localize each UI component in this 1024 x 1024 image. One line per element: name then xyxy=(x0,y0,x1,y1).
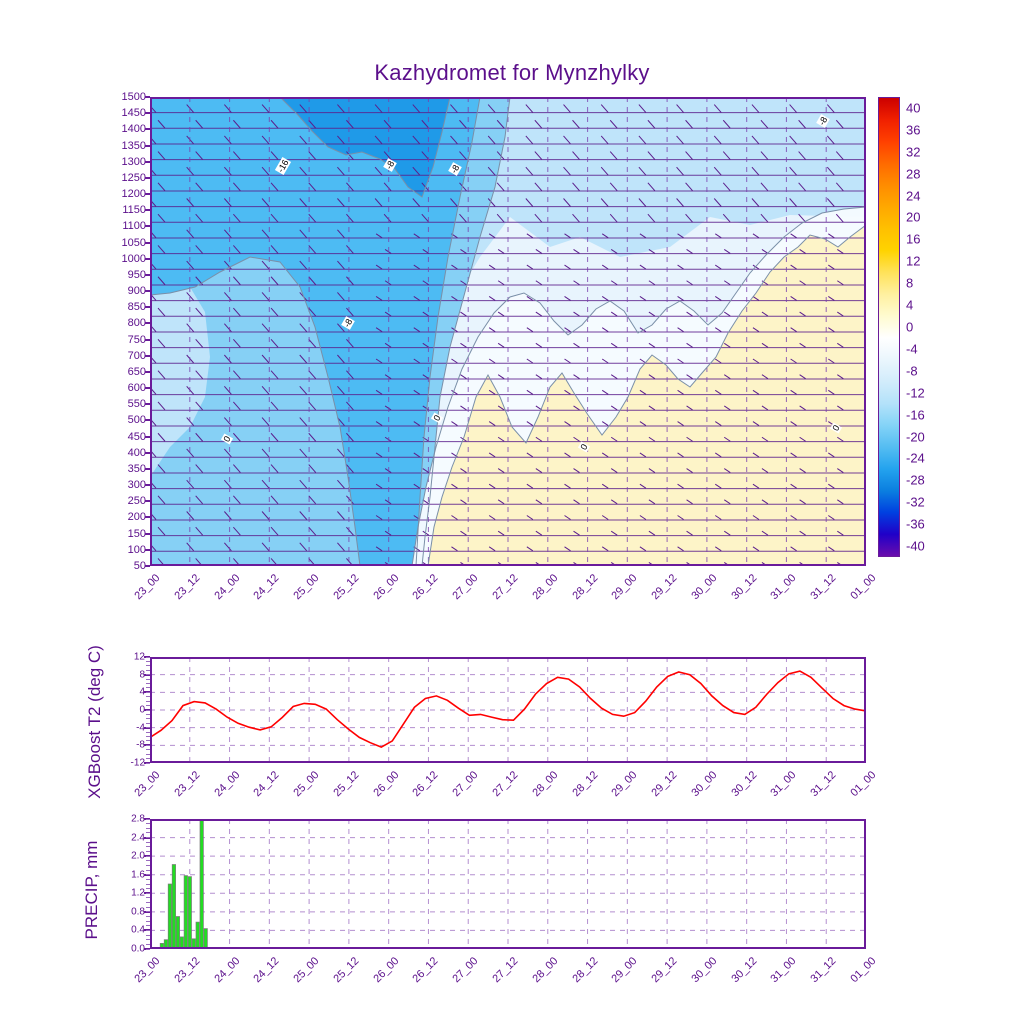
precip-x-tick: 24_12 xyxy=(252,955,282,985)
main-x-tick: 01_00 xyxy=(848,572,878,602)
colorbar-tick: 12 xyxy=(906,254,920,269)
main-x-tick: 24_00 xyxy=(212,572,242,602)
main-y-tickmark xyxy=(145,371,150,373)
main-y-tickmark xyxy=(145,112,150,114)
main-y-tickmark xyxy=(145,500,150,502)
precip-y-minor-tick xyxy=(146,879,150,880)
main-y-tickmark xyxy=(145,533,150,535)
main-x-tick: 24_12 xyxy=(252,572,282,602)
main-y-tickmark xyxy=(145,355,150,357)
colorbar-tick: 40 xyxy=(906,100,920,115)
t2-x-tick: 28_12 xyxy=(570,769,600,799)
page-title: Kazhydromet for Mynzhylky xyxy=(0,60,1024,86)
main-y-tickmark xyxy=(145,96,150,98)
main-y-tick: 850 xyxy=(128,301,146,313)
main-x-tick: 30_12 xyxy=(729,572,759,602)
t2-x-tick: 25_00 xyxy=(291,769,321,799)
precip-y-minor-tick xyxy=(146,819,150,820)
precip-y-minor-tick xyxy=(146,916,150,917)
precip-x-tick: 26_00 xyxy=(371,955,401,985)
t2-x-tick: 31_12 xyxy=(809,769,839,799)
precip-y-minor-tick xyxy=(146,897,150,898)
main-y-tickmark xyxy=(145,306,150,308)
precip-x-tick: 31_00 xyxy=(769,955,799,985)
t2-y-minor-tick xyxy=(146,665,150,666)
main-y-tickmark xyxy=(145,339,150,341)
precip-y-tick: 2.4 xyxy=(131,832,145,843)
t2-y-minor-tick xyxy=(146,718,150,719)
precip-y-minor-tick xyxy=(146,925,150,926)
main-y-tick: 900 xyxy=(128,285,146,297)
t2-x-tick: 28_00 xyxy=(530,769,560,799)
main-y-tickmark xyxy=(145,484,150,486)
colorbar-gradient xyxy=(878,97,900,557)
precip-y-minor-tick xyxy=(146,944,150,945)
precip-y-minor-tick xyxy=(146,930,150,931)
main-x-tick: 27_00 xyxy=(451,572,481,602)
main-y-tick: 750 xyxy=(128,334,146,346)
main-y-tick: 1200 xyxy=(122,188,146,200)
main-y-tickmark xyxy=(145,177,150,179)
colorbar-tick: 32 xyxy=(906,144,920,159)
t2-y-minor-tick xyxy=(146,736,150,737)
precip-y-minor-tick xyxy=(146,842,150,843)
main-y-tickmark xyxy=(145,161,150,163)
main-y-tick: 1400 xyxy=(122,123,146,135)
colorbar-tick: 24 xyxy=(906,188,920,203)
main-x-tick: 25_12 xyxy=(331,572,361,602)
t2-x-tick: 30_12 xyxy=(729,769,759,799)
main-x-tick: 25_00 xyxy=(291,572,321,602)
temperature-cross-section-panel xyxy=(150,97,866,566)
t2-x-tick: 26_12 xyxy=(411,769,441,799)
main-y-tick: 700 xyxy=(128,350,146,362)
t2-y-minor-tick xyxy=(146,692,150,693)
precip-y-minor-tick xyxy=(146,837,150,838)
t2-y-minor-tick xyxy=(146,657,150,658)
colorbar-tick: 8 xyxy=(906,276,913,291)
t2-x-tick: 25_12 xyxy=(331,769,361,799)
precip-x-tick: 23_12 xyxy=(172,955,202,985)
precip-y-tick: 0.0 xyxy=(131,944,145,955)
t2-y-minor-tick xyxy=(146,763,150,764)
precip-x-tick: 30_12 xyxy=(729,955,759,985)
precip-y-minor-tick xyxy=(146,860,150,861)
precip-x-tick: 29_00 xyxy=(610,955,640,985)
main-y-tick: 600 xyxy=(128,382,146,394)
precip-x-tick: 30_00 xyxy=(689,955,719,985)
precip-y-tick: 0.4 xyxy=(131,925,145,936)
main-y-tick: 950 xyxy=(128,269,146,281)
t2-y-tick: -12 xyxy=(131,758,145,769)
t2-x-tick: 30_00 xyxy=(689,769,719,799)
main-y-tickmark xyxy=(145,274,150,276)
t2-x-tick: 23_00 xyxy=(132,769,162,799)
main-x-tick: 28_00 xyxy=(530,572,560,602)
colorbar-tick: 4 xyxy=(906,298,913,313)
colorbar-tick: -28 xyxy=(906,473,925,488)
t2-x-tick: 29_00 xyxy=(610,769,640,799)
main-y-tick: 200 xyxy=(128,511,146,523)
main-y-tickmark xyxy=(145,403,150,405)
main-y-tickmark xyxy=(145,258,150,260)
precip-y-minor-tick xyxy=(146,911,150,912)
main-y-tick: 1300 xyxy=(122,156,146,168)
precip-x-tick: 29_12 xyxy=(649,955,679,985)
main-y-tickmark xyxy=(145,193,150,195)
t2-y-minor-tick xyxy=(146,758,150,759)
precip-y-minor-tick xyxy=(146,907,150,908)
main-y-tickmark xyxy=(145,242,150,244)
t2-x-tick: 23_12 xyxy=(172,769,202,799)
precip-y-minor-tick xyxy=(146,935,150,936)
precip-y-minor-tick xyxy=(146,884,150,885)
precip-y-tick: 2.0 xyxy=(131,851,145,862)
main-y-tick: 450 xyxy=(128,431,146,443)
main-y-tickmark xyxy=(145,322,150,324)
xgboost-t2-panel xyxy=(150,657,866,763)
main-y-tick: 350 xyxy=(128,463,146,475)
main-y-tick: 150 xyxy=(128,528,146,540)
t2-y-minor-tick xyxy=(146,714,150,715)
main-y-tick: 1050 xyxy=(122,237,146,249)
colorbar-tick: -24 xyxy=(906,451,925,466)
main-y-tick: 550 xyxy=(128,398,146,410)
precip-y-minor-tick xyxy=(146,856,150,857)
precip-y-minor-tick xyxy=(146,902,150,903)
main-y-tick: 1250 xyxy=(122,172,146,184)
main-y-tick: 800 xyxy=(128,317,146,329)
precip-y-tick: 1.6 xyxy=(131,869,145,880)
colorbar-tick: -36 xyxy=(906,517,925,532)
main-y-tick: 500 xyxy=(128,414,146,426)
t2-y-minor-tick xyxy=(146,745,150,746)
main-y-tickmark xyxy=(145,516,150,518)
precip-x-tick: 25_00 xyxy=(291,955,321,985)
main-y-tick: 650 xyxy=(128,366,146,378)
main-x-tick: 23_12 xyxy=(172,572,202,602)
main-y-tick: 1450 xyxy=(122,107,146,119)
precip-y-minor-tick xyxy=(146,949,150,950)
precip-panel-frame xyxy=(150,819,866,949)
colorbar-tick: 36 xyxy=(906,122,920,137)
colorbar-tick: -12 xyxy=(906,385,925,400)
main-y-tick: 1100 xyxy=(122,220,146,232)
t2-x-tick: 24_00 xyxy=(212,769,242,799)
precip-y-tick: 1.2 xyxy=(131,888,145,899)
precip-y-minor-tick xyxy=(146,870,150,871)
precip-y-minor-tick xyxy=(146,921,150,922)
precip-axis-label: PRECIP, mm xyxy=(82,790,102,990)
t2-y-minor-tick xyxy=(146,679,150,680)
main-y-tickmark xyxy=(145,225,150,227)
colorbar-tick: 28 xyxy=(906,166,920,181)
main-y-tick: 1350 xyxy=(122,140,146,152)
precip-x-tick: 24_00 xyxy=(212,955,242,985)
precip-x-tick: 27_12 xyxy=(490,955,520,985)
precip-x-tick: 01_00 xyxy=(848,955,878,985)
colorbar-tick: -8 xyxy=(906,363,918,378)
main-y-tickmark xyxy=(145,128,150,130)
main-x-tick: 23_00 xyxy=(132,572,162,602)
main-y-tick: 1000 xyxy=(122,253,146,265)
main-x-tick: 26_00 xyxy=(371,572,401,602)
t2-y-minor-tick xyxy=(146,732,150,733)
main-y-tickmark xyxy=(145,549,150,551)
t2-y-minor-tick xyxy=(146,740,150,741)
colorbar-tick: -16 xyxy=(906,407,925,422)
t2-x-tick: 31_00 xyxy=(769,769,799,799)
t2-y-minor-tick xyxy=(146,661,150,662)
precip-y-tick: 2.8 xyxy=(131,814,145,825)
main-y-tick: 400 xyxy=(128,447,146,459)
t2-y-minor-tick xyxy=(146,701,150,702)
main-y-tick: 300 xyxy=(128,479,146,491)
t2-panel-frame xyxy=(150,657,866,763)
precip-y-minor-tick xyxy=(146,832,150,833)
main-x-tick: 30_00 xyxy=(689,572,719,602)
precip-x-tick: 25_12 xyxy=(331,955,361,985)
colorbar-tick: 16 xyxy=(906,232,920,247)
colorbar-tick: -20 xyxy=(906,429,925,444)
main-x-tick: 26_12 xyxy=(411,572,441,602)
precip-x-tick: 23_00 xyxy=(132,955,162,985)
main-y-tick: 250 xyxy=(128,495,146,507)
colorbar-tick: 20 xyxy=(906,210,920,225)
precip-y-minor-tick xyxy=(146,939,150,940)
precip-x-tick: 28_12 xyxy=(570,955,600,985)
colorbar-tick: -32 xyxy=(906,495,925,510)
main-y-tickmark xyxy=(145,387,150,389)
t2-y-minor-tick xyxy=(146,727,150,728)
precip-y-minor-tick xyxy=(146,865,150,866)
precip-y-minor-tick xyxy=(146,846,150,847)
t2-x-tick: 24_12 xyxy=(252,769,282,799)
main-y-tick: 1500 xyxy=(122,91,146,103)
t2-y-minor-tick xyxy=(146,710,150,711)
t2-y-minor-tick xyxy=(146,696,150,697)
t2-x-tick: 27_12 xyxy=(490,769,520,799)
colorbar-tick: 0 xyxy=(906,320,913,335)
colorbar xyxy=(878,97,900,557)
precip-y-minor-tick xyxy=(146,888,150,889)
t2-y-minor-tick xyxy=(146,754,150,755)
precip-x-tick: 28_00 xyxy=(530,955,560,985)
precip-y-minor-tick xyxy=(146,893,150,894)
precip-y-minor-tick xyxy=(146,851,150,852)
precip-x-tick: 31_12 xyxy=(809,955,839,985)
main-y-tickmark xyxy=(145,565,150,567)
main-x-tick: 29_00 xyxy=(610,572,640,602)
main-y-tickmark xyxy=(145,436,150,438)
precip-y-minor-tick xyxy=(146,828,150,829)
main-panel-frame xyxy=(150,97,866,566)
t2-x-tick: 26_00 xyxy=(371,769,401,799)
t2-y-minor-tick xyxy=(146,749,150,750)
precip-y-minor-tick xyxy=(146,823,150,824)
main-y-tickmark xyxy=(145,419,150,421)
t2-y-minor-tick xyxy=(146,705,150,706)
colorbar-tick: -4 xyxy=(906,341,918,356)
main-y-tickmark xyxy=(145,290,150,292)
main-x-tick: 31_12 xyxy=(809,572,839,602)
t2-y-minor-tick xyxy=(146,683,150,684)
main-x-tick: 27_12 xyxy=(490,572,520,602)
t2-x-tick: 27_00 xyxy=(451,769,481,799)
main-y-tickmark xyxy=(145,468,150,470)
t2-x-tick: 01_00 xyxy=(848,769,878,799)
main-y-tickmark xyxy=(145,145,150,147)
precip-x-tick: 26_12 xyxy=(411,955,441,985)
main-y-tickmark xyxy=(145,452,150,454)
t2-x-tick: 29_12 xyxy=(649,769,679,799)
t2-y-minor-tick xyxy=(146,670,150,671)
precip-x-tick: 27_00 xyxy=(451,955,481,985)
precip-y-minor-tick xyxy=(146,874,150,875)
main-x-tick: 28_12 xyxy=(570,572,600,602)
main-y-tickmark xyxy=(145,209,150,211)
main-x-tick: 29_12 xyxy=(649,572,679,602)
main-y-tick: 100 xyxy=(128,544,146,556)
main-y-tick: 1150 xyxy=(122,204,146,216)
precip-panel xyxy=(150,819,866,949)
main-x-tick: 31_00 xyxy=(769,572,799,602)
t2-y-minor-tick xyxy=(146,674,150,675)
colorbar-tick: -40 xyxy=(906,539,925,554)
t2-y-minor-tick xyxy=(146,723,150,724)
t2-y-minor-tick xyxy=(146,687,150,688)
precip-y-tick: 0.8 xyxy=(131,906,145,917)
